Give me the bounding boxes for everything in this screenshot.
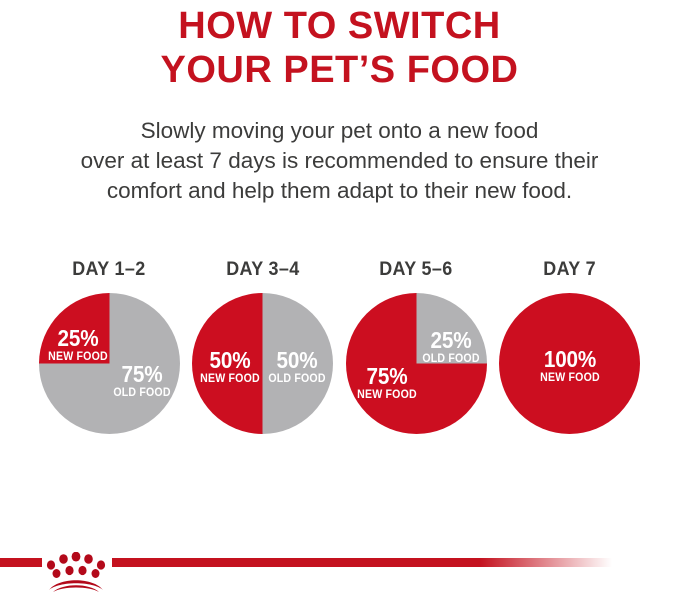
slice-label-new-food-4: 100% NEW FOOD [525,348,615,385]
slice-name-new-3: NEW FOOD [355,390,419,402]
slice-pct-new-3: 75% [355,365,418,388]
slice-pct-new-2: 50% [200,349,259,372]
page-title-line-1: HOW TO SWITCH [0,4,679,48]
pie-chart-row: DAY 1–2 25% NEW FOOD 75% OLD FOOD DAY 3–… [0,258,679,453]
crown-logo-icon [43,552,109,592]
page-title: HOW TO SWITCH YOUR PET’S FOOD [0,4,679,92]
slice-pct-new-1: 25% [48,327,107,350]
slice-name-old-3: OLD FOOD [421,354,480,366]
day-label-2: DAY 3–4 [226,258,299,281]
day-label-1: DAY 1–2 [72,258,145,281]
slice-label-new-food-1: 25% NEW FOOD [45,327,111,364]
pie-cell-day-5-6: DAY 5–6 25% OLD FOOD 75% NEW FOOD [340,258,492,453]
pie-chart-day-1-2: 25% NEW FOOD 75% OLD FOOD [39,293,180,434]
pie-chart-day-5-6: 25% OLD FOOD 75% NEW FOOD [346,293,487,434]
footer-rule-left [0,558,42,567]
day-label-4: DAY 7 [544,258,597,281]
slice-name-new-1: NEW FOOD [47,352,108,364]
pie-cell-day-3-4: DAY 3–4 50% NEW FOOD 50% OLD FOOD [187,258,339,453]
slice-name-new-4: NEW FOOD [529,373,612,385]
slice-pct-old-1: 75% [110,363,173,386]
intro-line-2: over at least 7 days is recommended to e… [0,146,679,176]
slice-pct-new-4: 100% [530,348,611,371]
intro-paragraph: Slowly moving your pet onto a new food o… [0,116,679,206]
slice-label-old-food-2: 50% OLD FOOD [264,349,330,386]
intro-line-1: Slowly moving your pet onto a new food [0,116,679,146]
slice-name-old-2: OLD FOOD [267,374,328,386]
slice-pct-old-2: 50% [267,349,326,372]
intro-line-3: comfort and help them adapt to their new… [0,176,679,206]
page-title-line-2: YOUR PET’S FOOD [0,48,679,92]
slice-label-new-food-3: 75% NEW FOOD [352,365,422,402]
footer-rule-right [112,558,679,567]
day-label-3: DAY 5–6 [380,258,453,281]
pie-chart-day-3-4: 50% NEW FOOD 50% OLD FOOD [192,293,333,434]
slice-label-old-food-1: 75% OLD FOOD [107,363,177,400]
pie-cell-day-7: DAY 7 100% NEW FOOD [494,258,646,453]
pie-cell-day-1-2: DAY 1–2 25% NEW FOOD 75% OLD FOOD [33,258,185,453]
pie-chart-day-7: 100% NEW FOOD [499,293,640,434]
slice-name-old-1: OLD FOOD [109,388,173,400]
slice-name-new-2: NEW FOOD [200,374,261,386]
slice-label-old-food-3: 25% OLD FOOD [419,329,483,366]
slice-pct-old-3: 25% [422,329,480,352]
slice-label-new-food-2: 50% NEW FOOD [197,349,263,386]
